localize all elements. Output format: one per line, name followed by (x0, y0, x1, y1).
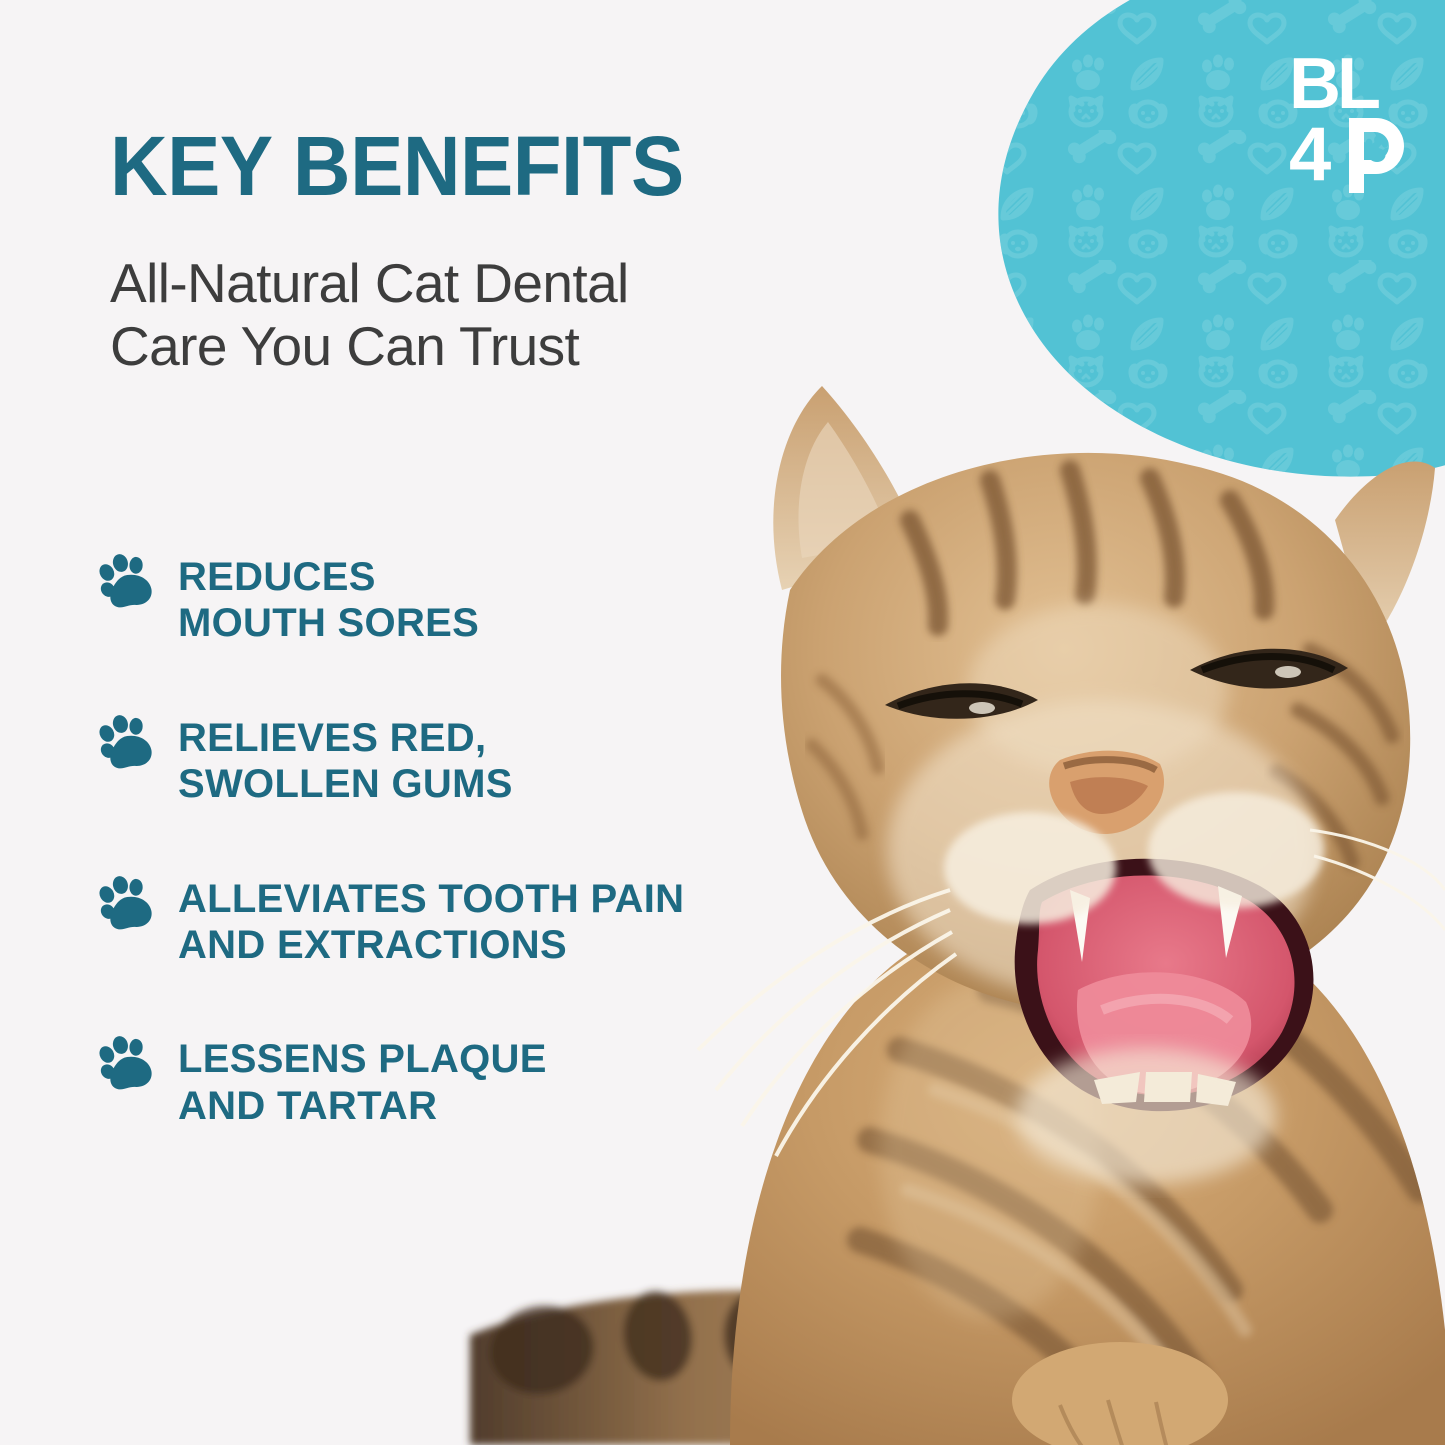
benefit-line-2: AND TARTAR (178, 1083, 547, 1129)
benefit-label: RELIEVES RED, SWOLLEN GUMS (178, 709, 513, 808)
benefit-line-2: AND EXTRACTIONS (178, 922, 684, 968)
logo-text-4: 4 (1289, 112, 1331, 193)
bl4p-logo: BL 4 (1287, 48, 1407, 193)
paw-icon (98, 713, 158, 775)
paw-icon (98, 552, 158, 614)
benefit-line-1: ALLEVIATES TOOTH PAIN (178, 876, 684, 922)
benefit-line-1: RELIEVES RED, (178, 715, 513, 761)
product-benefits-graphic: BL 4 (0, 0, 1445, 1445)
benefit-label: REDUCES MOUTH SORES (178, 548, 479, 647)
benefit-line-2: SWOLLEN GUMS (178, 761, 513, 807)
cat-eyes (885, 649, 1348, 719)
benefit-line-1: LESSENS PLAQUE (178, 1036, 547, 1082)
benefit-label: ALLEVIATES TOOTH PAIN AND EXTRACTIONS (178, 870, 684, 969)
benefit-line-2: MOUTH SORES (178, 600, 479, 646)
cat-front-paw (1012, 1342, 1228, 1445)
cat-right-ear (1335, 461, 1435, 646)
cat-nose (1049, 751, 1164, 834)
benefits-list: REDUCES MOUTH SORES RELIEVES RED, (98, 548, 858, 1129)
cat-open-mouth (1015, 859, 1314, 1111)
benefit-item: REDUCES MOUTH SORES (98, 548, 858, 647)
page-title: KEY BENEFITS (110, 128, 684, 205)
cat-tail (470, 1287, 1090, 1445)
subtitle-line-1: All-Natural Cat Dental (110, 252, 629, 315)
benefit-item: ALLEVIATES TOOTH PAIN AND EXTRACTIONS (98, 870, 858, 969)
page-subtitle: All-Natural Cat Dental Care You Can Trus… (110, 252, 629, 377)
cat-fang-right (1218, 886, 1242, 958)
benefit-item: LESSENS PLAQUE AND TARTAR (98, 1030, 858, 1129)
benefit-line-1: REDUCES (178, 554, 479, 600)
cat-fang-left (1070, 890, 1090, 962)
benefit-item: RELIEVES RED, SWOLLEN GUMS (98, 709, 858, 808)
cat-muzzle (944, 792, 1324, 1184)
paw-icon (98, 874, 158, 936)
paw-icon (98, 1034, 158, 1096)
subtitle-line-2: Care You Can Trust (110, 315, 629, 378)
benefit-label: LESSENS PLAQUE AND TARTAR (178, 1030, 547, 1129)
